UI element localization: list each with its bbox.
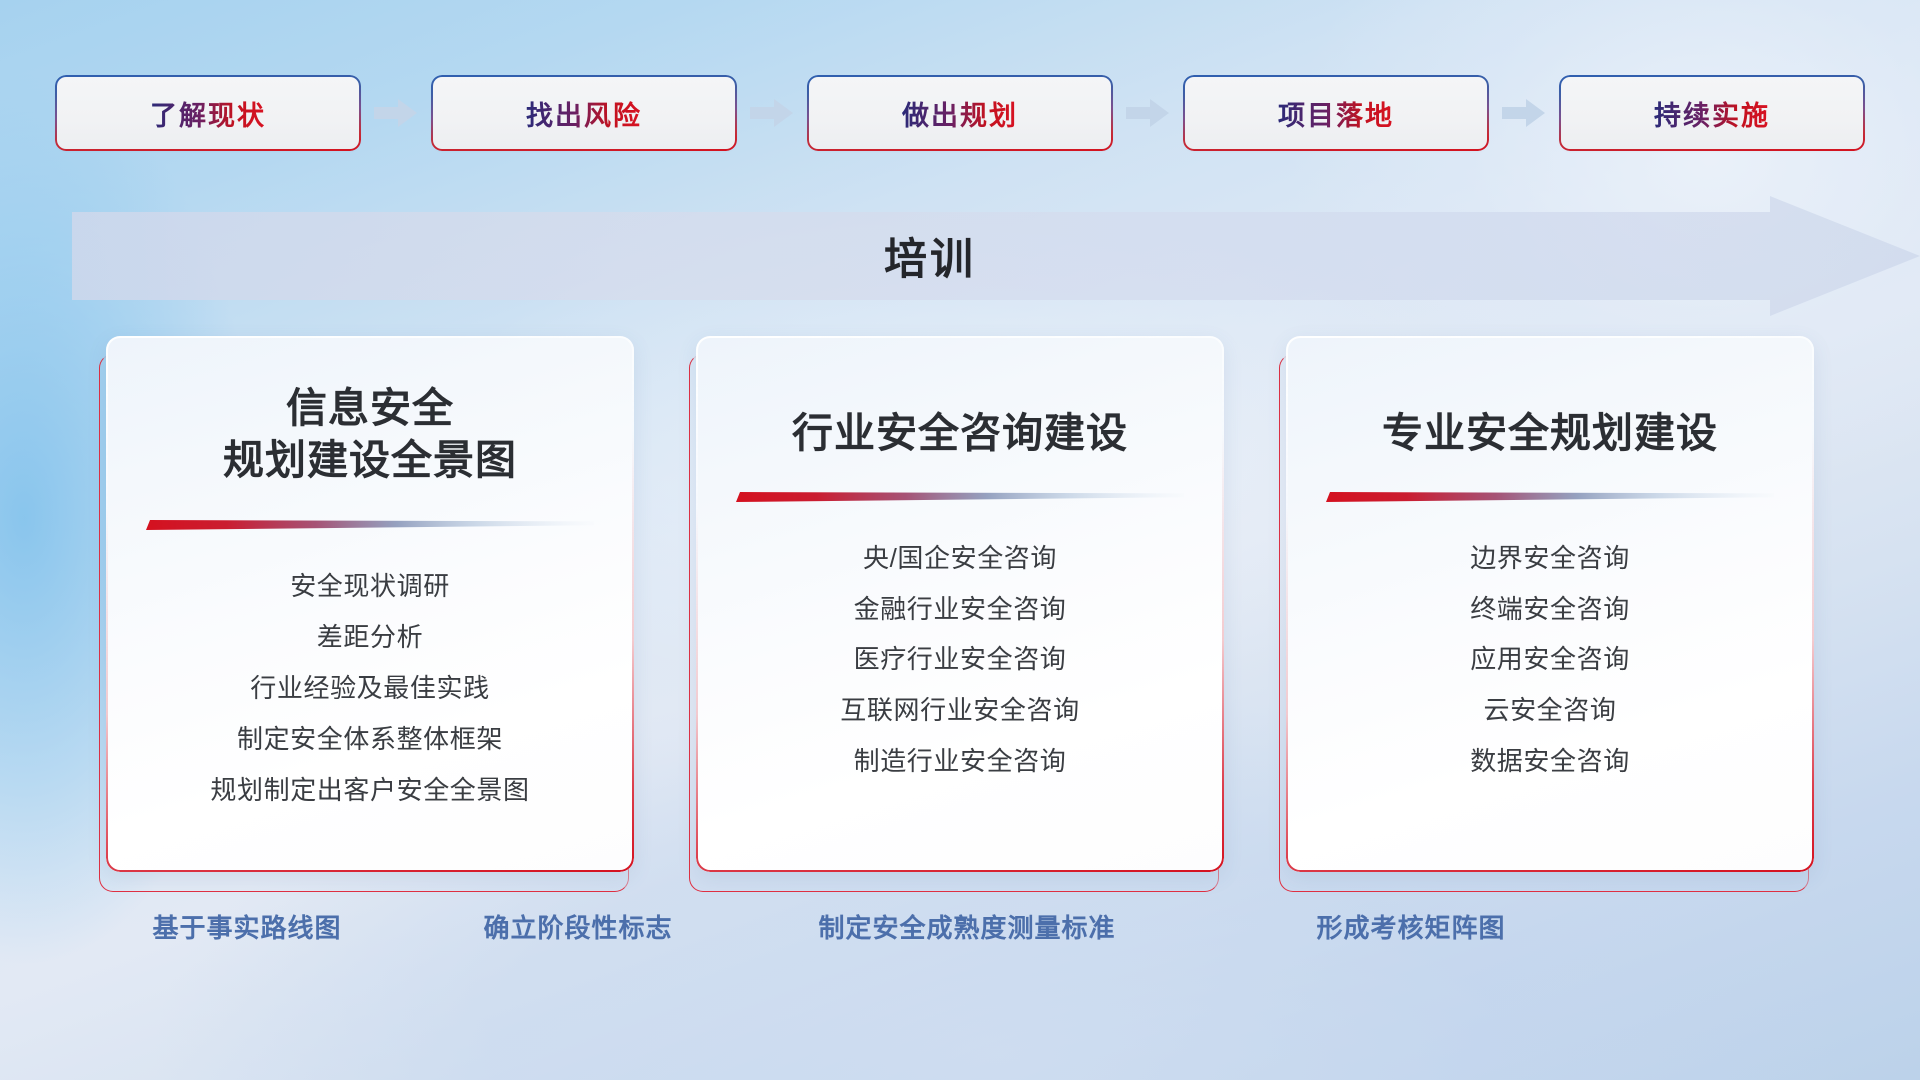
banner-label: 培训 [0, 196, 1920, 316]
caption-2: 确立阶段性标志 [483, 908, 672, 945]
step-box-5[interactable]: 持续实施 [1561, 77, 1863, 149]
list-item: 金融行业安全咨询 [854, 591, 1067, 628]
caption-4: 形成考核矩阵图 [1316, 908, 1505, 945]
list-item: 央/国企安全咨询 [863, 540, 1057, 577]
list-item: 差距分析 [317, 619, 423, 656]
card-1-list: 安全现状调研 差距分析 行业经验及最佳实践 制定安全体系整体框架 规划制定出客户… [210, 568, 529, 809]
card-row: 信息安全 规划建设全景图 [0, 336, 1920, 876]
caption-3: 制定安全成熟度测量标准 [818, 908, 1115, 945]
card-1: 信息安全 规划建设全景图 [106, 336, 634, 872]
step-label-4: 项目落地 [1278, 94, 1394, 133]
arrow-right-icon [359, 91, 433, 135]
card-3: 专业安全规划建设 [1286, 336, 1814, 872]
process-step-row: 了解现状 找出风险 做出规划 项目落地 [0, 74, 1920, 152]
list-item: 规划制定出客户安全全景图 [210, 772, 529, 809]
list-item: 应用安全咨询 [1470, 641, 1630, 678]
list-item: 制造行业安全咨询 [854, 743, 1067, 780]
list-item: 终端安全咨询 [1470, 591, 1630, 628]
caption-row: 基于事实路线图 确立阶段性标志 制定安全成熟度测量标准 形成考核矩阵图 [0, 908, 1920, 960]
step-box-3[interactable]: 做出规划 [809, 77, 1111, 149]
step-label-2: 找出风险 [526, 94, 642, 133]
card-2-body[interactable]: 行业安全咨询建设 [696, 336, 1224, 872]
card-2-list: 央/国企安全咨询 金融行业安全咨询 医疗行业安全咨询 互联网行业安全咨询 制造行… [840, 540, 1079, 781]
slide-canvas: 了解现状 找出风险 做出规划 项目落地 [0, 0, 1920, 1080]
card-3-title: 专业安全规划建设 [1382, 408, 1718, 460]
list-item: 边界安全咨询 [1470, 540, 1630, 577]
list-item: 行业经验及最佳实践 [250, 670, 489, 707]
list-item: 制定安全体系整体框架 [237, 721, 503, 758]
list-item: 互联网行业安全咨询 [840, 692, 1079, 729]
list-item: 云安全咨询 [1483, 692, 1616, 729]
list-item: 数据安全咨询 [1470, 743, 1630, 780]
card-3-divider [1326, 488, 1774, 506]
arrow-right-icon [1487, 91, 1561, 135]
step-box-2[interactable]: 找出风险 [433, 77, 735, 149]
step-box-1[interactable]: 了解现状 [57, 77, 359, 149]
caption-1: 基于事实路线图 [152, 908, 341, 945]
training-banner: 培训 [0, 196, 1920, 316]
card-1-title: 信息安全 规划建设全景图 [223, 383, 517, 486]
arrow-right-icon [1111, 91, 1185, 135]
arrow-right-icon [735, 91, 809, 135]
step-label-3: 做出规划 [902, 94, 1018, 133]
list-item: 医疗行业安全咨询 [854, 641, 1067, 678]
step-box-4[interactable]: 项目落地 [1185, 77, 1487, 149]
card-1-divider [146, 516, 594, 534]
card-1-body[interactable]: 信息安全 规划建设全景图 [106, 336, 634, 872]
card-2-title: 行业安全咨询建设 [792, 408, 1128, 460]
step-label-1: 了解现状 [150, 94, 266, 133]
card-3-body[interactable]: 专业安全规划建设 [1286, 336, 1814, 872]
card-2: 行业安全咨询建设 [696, 336, 1224, 872]
step-label-5: 持续实施 [1654, 94, 1770, 133]
card-3-list: 边界安全咨询 终端安全咨询 应用安全咨询 云安全咨询 数据安全咨询 [1470, 540, 1630, 781]
list-item: 安全现状调研 [290, 568, 450, 605]
card-2-divider [736, 488, 1184, 506]
